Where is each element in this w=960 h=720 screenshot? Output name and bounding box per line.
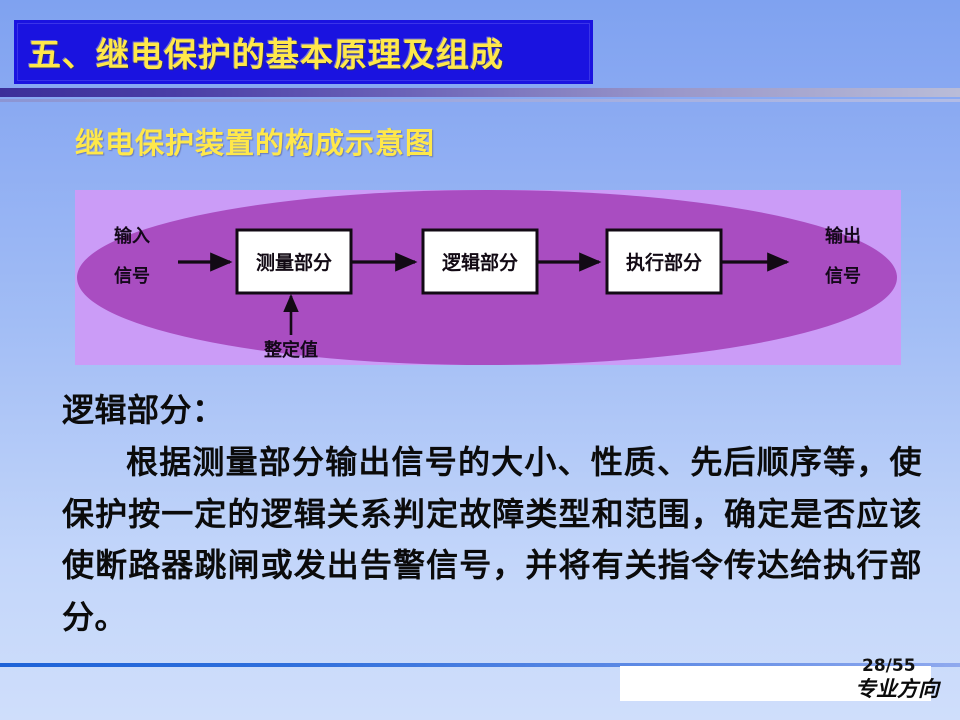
watermark-label: 专业方向: [855, 673, 939, 703]
block-diagram-panel: 输入 信号 测量部分 逻辑部分 执行部分 输出 信号 整定值: [75, 190, 901, 365]
title-divider-light: [0, 99, 960, 102]
title-divider-dark: [0, 88, 960, 97]
body-heading: 逻辑部分：: [62, 385, 922, 437]
diagram-input-label-line1: 输入: [114, 225, 150, 247]
body-paragraph: 根据测量部分输出信号的大小、性质、先后顺序等，使保护按一定的逻辑关系判定故障类型…: [62, 437, 922, 644]
body-text-block: 逻辑部分： 根据测量部分输出信号的大小、性质、先后顺序等，使保护按一定的逻辑关系…: [62, 385, 922, 644]
diagram-setting-label: 整定值: [263, 339, 318, 361]
diagram-box-execute-label: 执行部分: [626, 251, 702, 274]
diagram-box-measure-label: 测量部分: [256, 251, 332, 274]
slide-title-banner: 五、继电保护的基本原理及组成: [14, 20, 593, 84]
page-title: 五、继电保护的基本原理及组成: [14, 28, 504, 76]
section-subtitle: 继电保护装置的构成示意图: [75, 120, 435, 162]
diagram-box-logic-label: 逻辑部分: [442, 251, 518, 274]
slide-canvas: 五、继电保护的基本原理及组成 继电保护装置的构成示意图 输入 信号 测量部分: [0, 0, 960, 720]
diagram-output-label-line2: 信号: [825, 265, 861, 287]
diagram-output-label-line1: 输出: [825, 225, 861, 247]
block-diagram-svg: 输入 信号 测量部分 逻辑部分 执行部分 输出 信号 整定值: [75, 190, 901, 365]
diagram-input-label-line2: 信号: [114, 265, 150, 287]
